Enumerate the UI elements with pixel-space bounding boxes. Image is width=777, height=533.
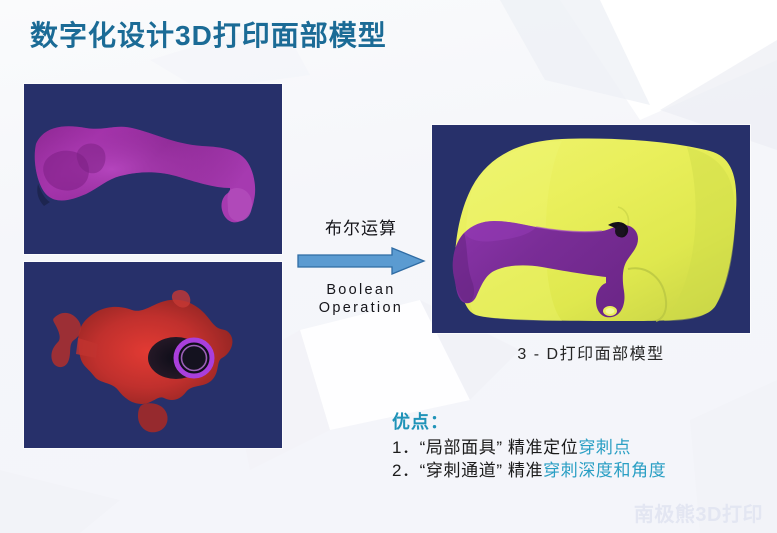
boolean-label-en-line1: Boolean	[296, 281, 426, 299]
caption-face-model: 3 - D打印面部模型	[432, 340, 750, 364]
image-purple-strut-model	[24, 84, 282, 254]
advantage-1-number: 1．	[392, 438, 420, 457]
image-yellow-face-model	[432, 125, 750, 333]
advantages-block: 优点： 1．“局部面具” 精准定位穿刺点 2．“穿刺通道” 精准穿刺深度和角度	[392, 408, 666, 482]
advantage-1-highlight: 穿刺点	[578, 438, 631, 457]
watermark-text: 南极熊3D打印	[634, 498, 763, 527]
advantage-2-quoted: “穿刺通道”	[420, 461, 503, 480]
slide-canvas: 数字化设计3D打印面部模型	[0, 0, 777, 533]
advantage-item-1: 1．“局部面具” 精准定位穿刺点	[392, 436, 666, 459]
advantage-1-mid: 精准定位	[503, 438, 579, 457]
advantage-1-quoted: “局部面具”	[420, 438, 503, 457]
image-red-anatomy-model	[24, 262, 282, 448]
slide-title: 数字化设计3D打印面部模型	[30, 14, 387, 54]
boolean-operation-arrow-group: 布尔运算 Boolean Operation	[296, 214, 426, 317]
advantage-2-highlight: 穿刺深度和角度	[543, 461, 666, 480]
boolean-label-en-line2: Operation	[296, 299, 426, 317]
advantages-heading: 优点：	[392, 408, 666, 434]
advantage-2-mid: 精准	[503, 461, 544, 480]
advantage-2-number: 2．	[392, 461, 420, 480]
boolean-label-cn: 布尔运算	[296, 214, 426, 239]
advantage-item-2: 2．“穿刺通道” 精准穿刺深度和角度	[392, 459, 666, 482]
right-arrow-icon	[296, 247, 426, 275]
